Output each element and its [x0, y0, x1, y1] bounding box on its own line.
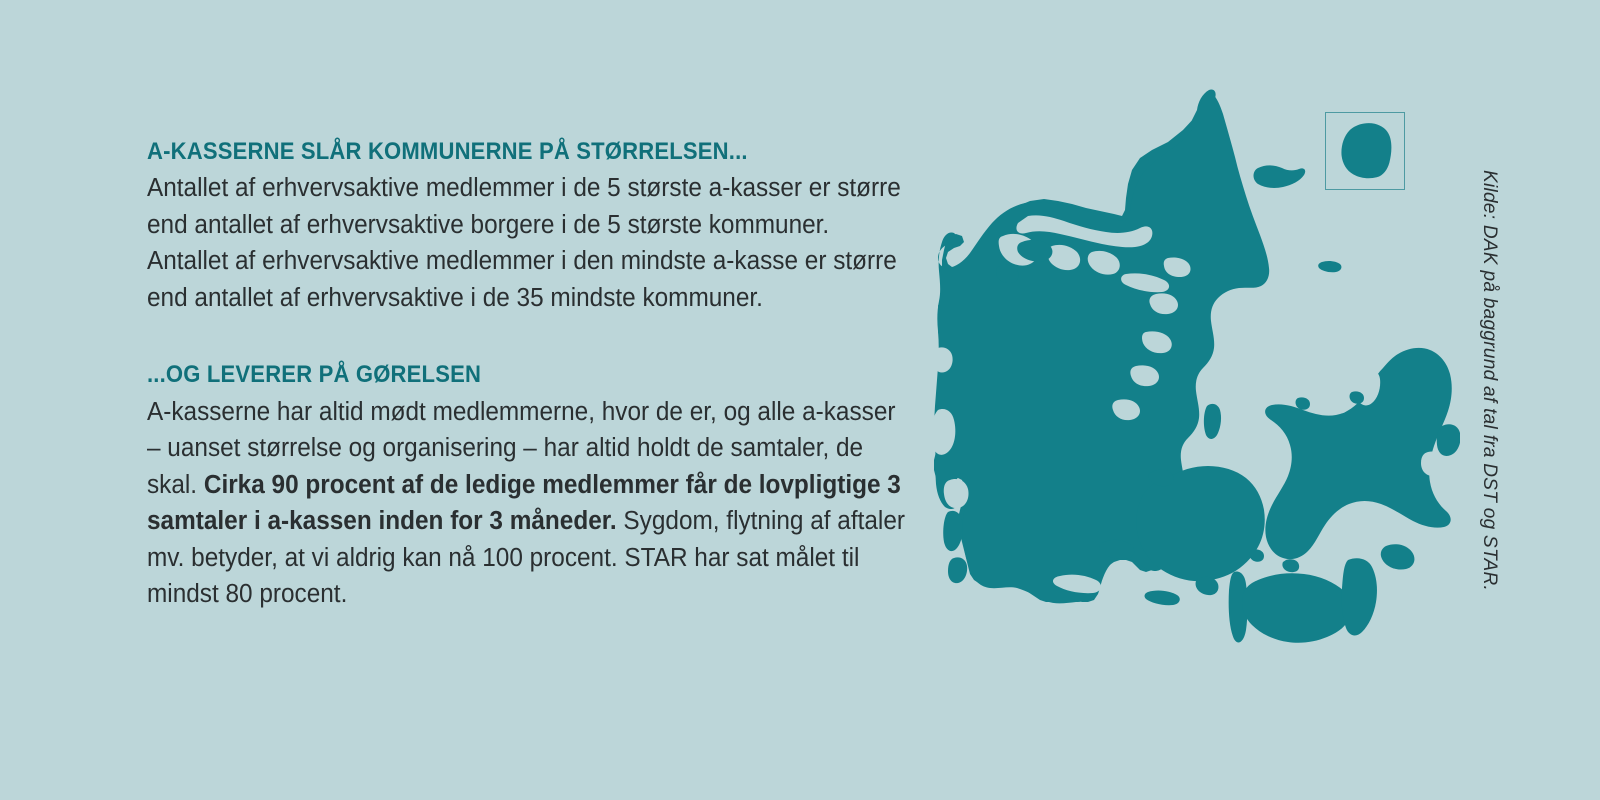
fejo-islet — [1282, 559, 1299, 572]
paragraph-text: Antallet af erhvervsaktive medlemmer i d… — [147, 174, 901, 312]
samso-island — [1204, 404, 1221, 439]
funen-islet-tasinge — [1196, 577, 1219, 595]
bornholm-inset-box — [1325, 112, 1405, 190]
sejero-islet — [1296, 397, 1310, 409]
section-delivery: ...OG LEVERER PÅ GØRELSEN A-kasserne har… — [147, 362, 907, 612]
koge-bay — [1421, 451, 1444, 476]
bornholm-island — [1341, 123, 1391, 178]
article-text-column: A-KASSERNE SLÅR KOMMUNERNE PÅ STØRRELSEN… — [147, 139, 907, 613]
zealand-south-inlet — [1323, 531, 1353, 554]
bornholm-inset-svg — [1326, 113, 1404, 189]
aero-island — [1145, 591, 1180, 606]
section-body-size: Antallet af erhvervsaktive medlemmer i d… — [147, 170, 909, 316]
orbaek-islet — [1250, 549, 1264, 561]
anholt-island — [1318, 261, 1341, 272]
romo-island — [948, 557, 967, 583]
section-body-delivery: A-kasserne har altid mødt medlemmerne, h… — [147, 394, 909, 613]
source-credit: Kilde: DAK på baggrund af tal fra DST og… — [1478, 170, 1500, 591]
section-size: A-KASSERNE SLÅR KOMMUNERNE PÅ STØRRELSEN… — [147, 139, 907, 316]
falster-island — [1342, 558, 1377, 635]
fano-island — [943, 511, 963, 551]
section-heading-delivery: ...OG LEVERER PÅ GØRELSEN — [147, 362, 831, 388]
amager-island — [1437, 424, 1460, 456]
mon-island — [1381, 544, 1415, 569]
section-heading-size: A-KASSERNE SLÅR KOMMUNERNE PÅ STØRRELSEN… — [147, 139, 831, 165]
laeso-island — [1254, 165, 1306, 188]
lolland-island — [1242, 573, 1352, 643]
